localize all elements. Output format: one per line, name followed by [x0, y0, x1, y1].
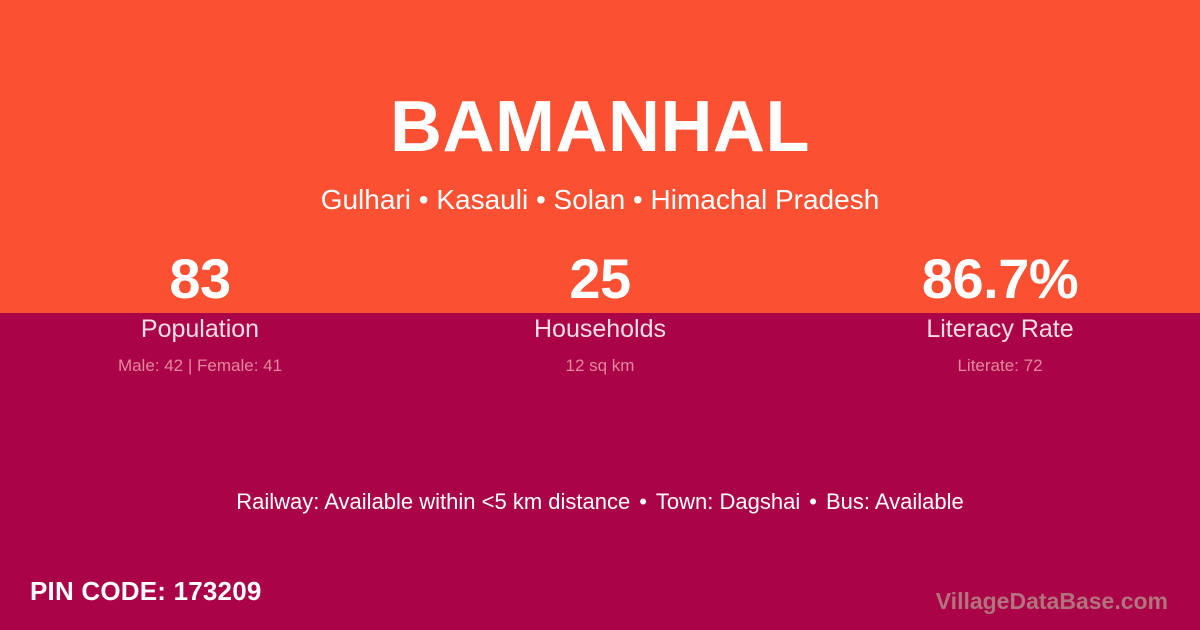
stat-population: 83 Population Male: 42 | Female: 41 [0, 246, 400, 377]
amenity-separator-2: • [800, 487, 826, 517]
stat-literacy-rate-label: Literacy Rate [800, 313, 1200, 345]
amenities-line: Railway: Available within <5 km distance… [0, 487, 1200, 517]
amenity-railway: Railway: Available within <5 km distance [236, 489, 630, 514]
page-title: BAMANHAL [0, 88, 1200, 166]
stat-literacy-rate-sub: Literate: 72 [800, 355, 1200, 377]
stat-population-sub: Male: 42 | Female: 41 [0, 355, 400, 377]
site-watermark: VillageDataBase.com [936, 586, 1168, 616]
stat-literacy-rate-value: 86.7% [800, 246, 1200, 312]
stats-row: 83 Population Male: 42 | Female: 41 25 H… [0, 246, 1200, 377]
amenity-separator-1: • [630, 487, 656, 517]
stat-households: 25 Households 12 sq km [400, 246, 800, 377]
village-info-card: BAMANHAL Gulhari • Kasauli • Solan • Him… [0, 0, 1200, 630]
stat-households-label: Households [400, 313, 800, 345]
breadcrumb: Gulhari • Kasauli • Solan • Himachal Pra… [0, 183, 1200, 217]
pin-code: PIN CODE: 173209 [30, 574, 262, 608]
stat-households-value: 25 [400, 246, 800, 312]
stat-literacy-rate: 86.7% Literacy Rate Literate: 72 [800, 246, 1200, 377]
stat-households-sub: 12 sq km [400, 355, 800, 377]
amenity-town: Town: Dagshai [656, 489, 800, 514]
amenity-bus: Bus: Available [826, 489, 964, 514]
stat-population-label: Population [0, 313, 400, 345]
stat-population-value: 83 [0, 246, 400, 312]
